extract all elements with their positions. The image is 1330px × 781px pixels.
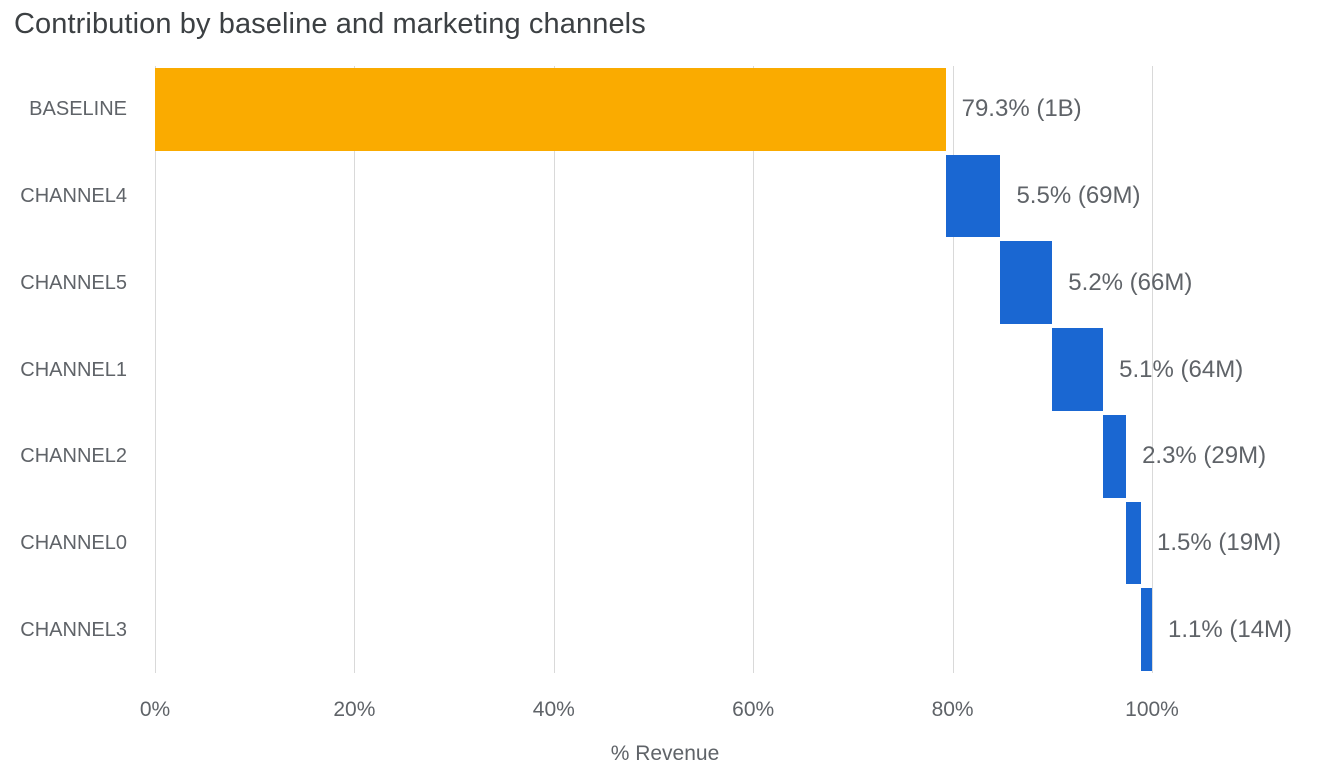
data-labels-layer: 79.3% (1B)5.5% (69M)5.2% (66M)5.1% (64M)… xyxy=(0,66,1330,673)
data-label-channel3: 1.1% (14M) xyxy=(1168,616,1292,644)
data-label-channel1: 5.1% (64M) xyxy=(1119,356,1243,384)
waterfall-chart: Contribution by baseline and marketing c… xyxy=(0,0,1330,781)
x-axis-title: % Revenue xyxy=(0,741,1330,766)
data-label-channel5: 5.2% (66M) xyxy=(1068,269,1192,297)
x-tick-label-80pct: 80% xyxy=(932,697,974,722)
x-tick-label-40pct: 40% xyxy=(533,697,575,722)
x-tick-label-60pct: 60% xyxy=(732,697,774,722)
data-label-channel2: 2.3% (29M) xyxy=(1142,442,1266,470)
data-label-channel0: 1.5% (19M) xyxy=(1157,529,1281,557)
data-label-channel4: 5.5% (69M) xyxy=(1016,182,1140,210)
x-axis: 0%20%40%60%80%100% % Revenue xyxy=(0,673,1330,781)
x-tick-label-0pct: 0% xyxy=(140,697,170,722)
data-label-baseline: 79.3% (1B) xyxy=(962,95,1082,123)
chart-title: Contribution by baseline and marketing c… xyxy=(14,6,646,42)
x-tick-label-20pct: 20% xyxy=(333,697,375,722)
x-tick-label-100pct: 100% xyxy=(1125,697,1179,722)
